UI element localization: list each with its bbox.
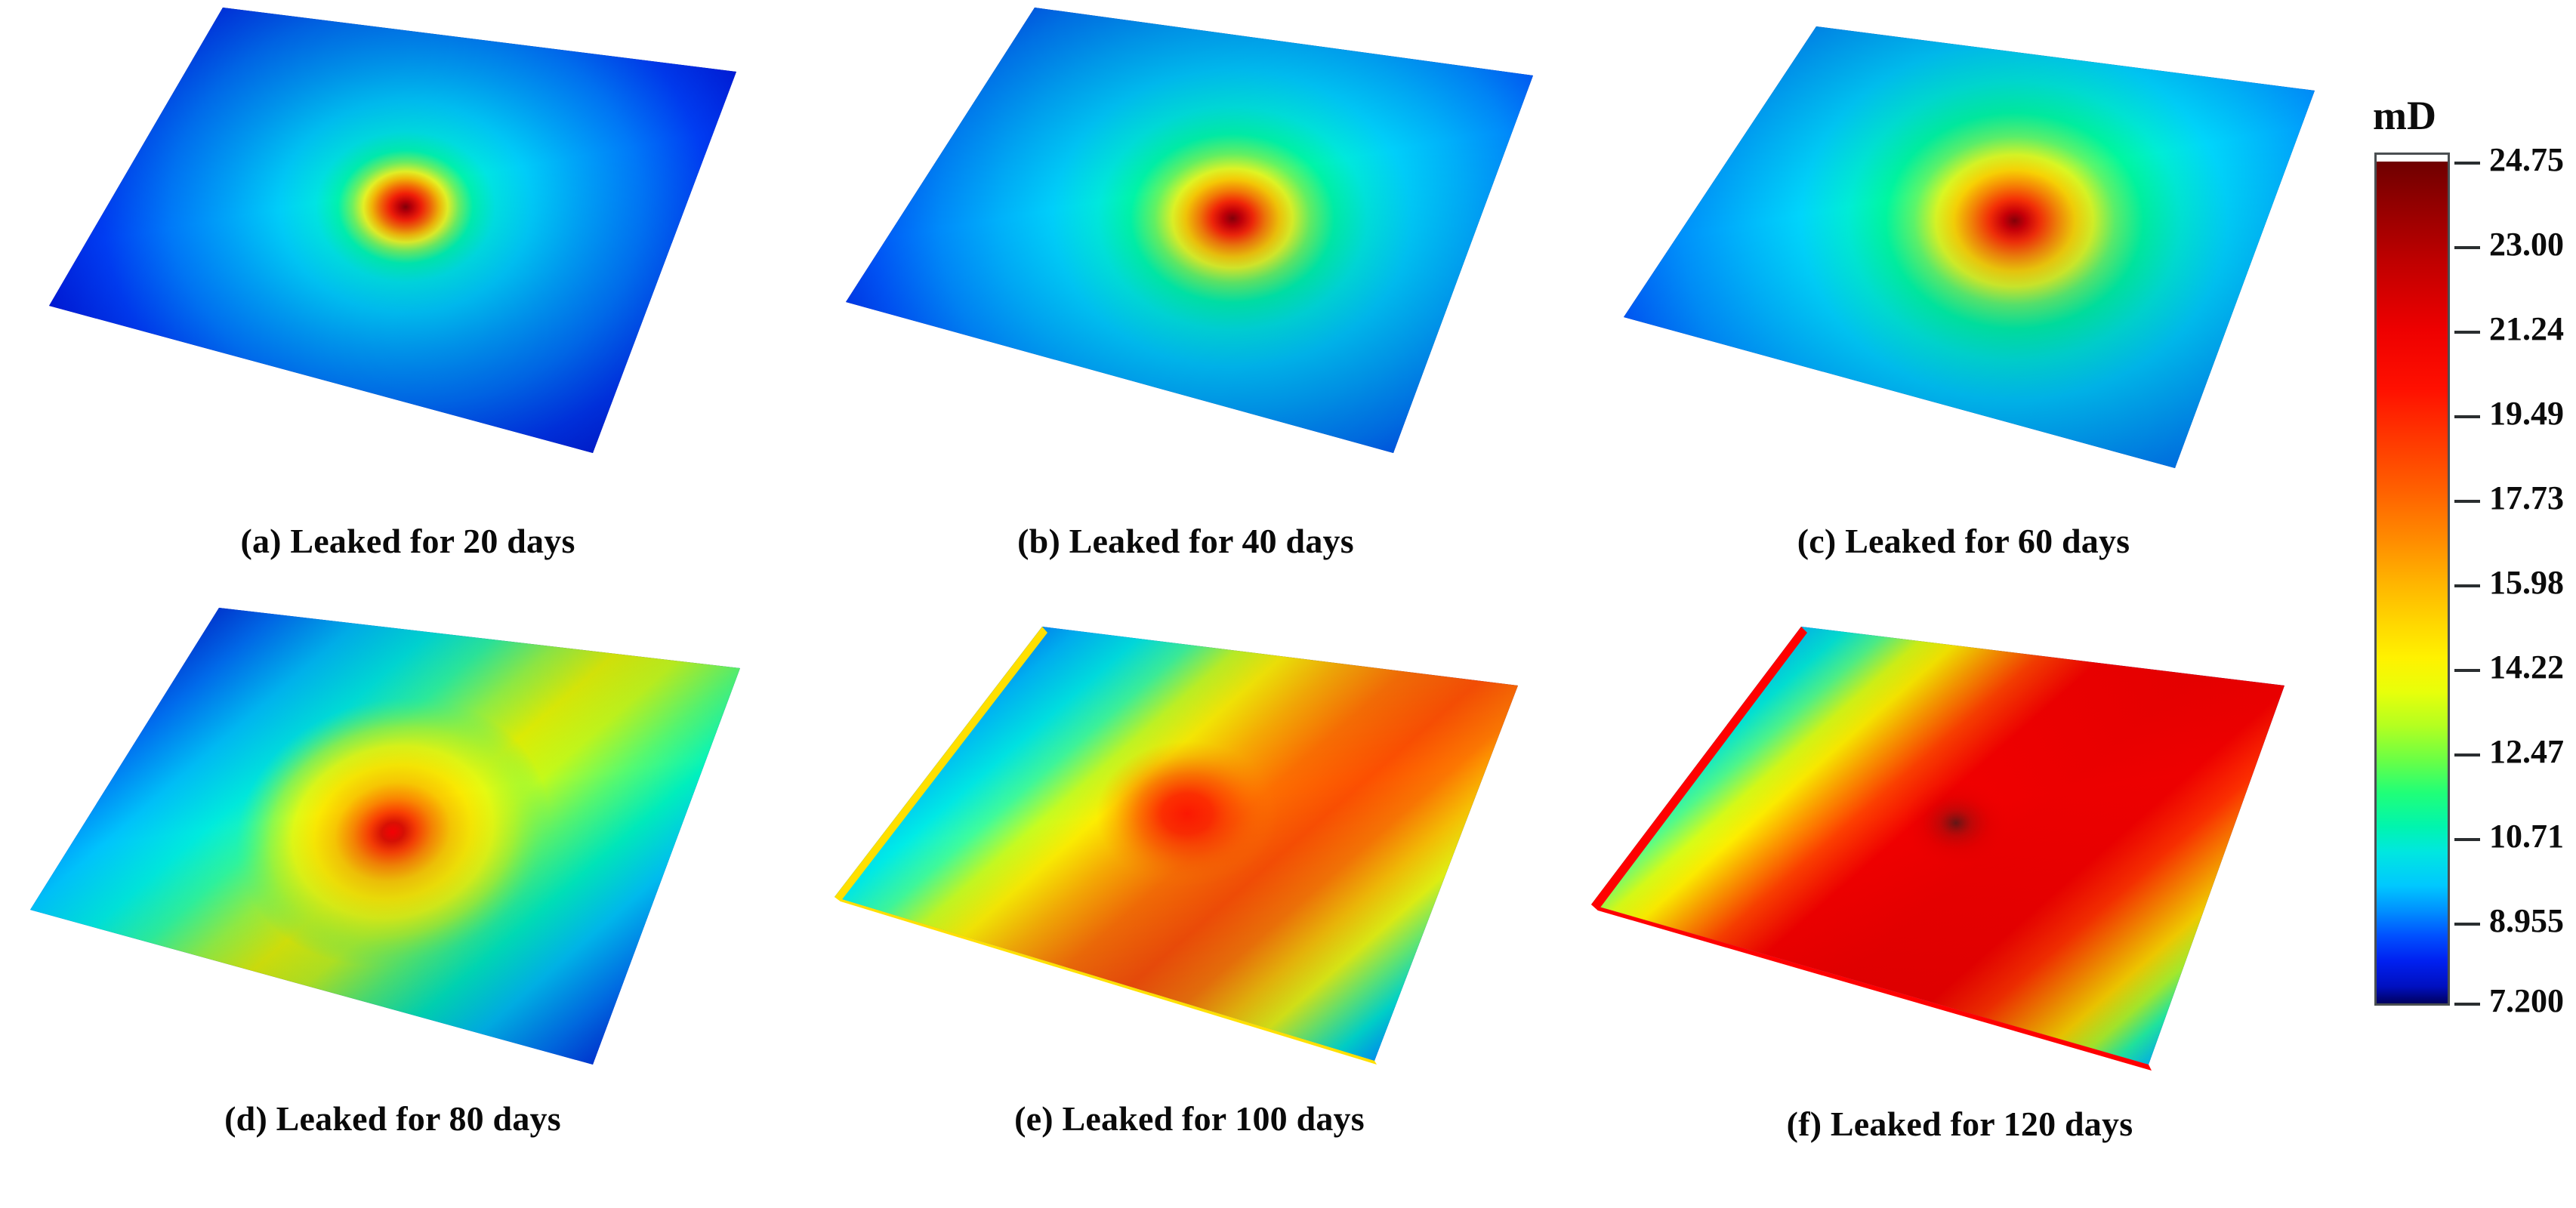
panel-c: (c) Leaked for 60 days: [1586, 0, 2341, 589]
colorbar-tick-label: 15.98: [2489, 566, 2564, 599]
panel-b: (b) Leaked for 40 days: [808, 0, 1563, 589]
colorbar-tick: [2454, 500, 2480, 503]
panel-a: (a) Leaked for 20 days: [30, 0, 785, 589]
colorbar-tick: [2454, 415, 2480, 418]
colorbar-tick: [2454, 669, 2480, 672]
colorbar-tick: [2454, 923, 2480, 926]
colorbar-tick: [2454, 162, 2480, 165]
colorbar-tick-label: 19.49: [2489, 397, 2564, 430]
colorbar-tick-label: 8.955: [2489, 904, 2564, 938]
panel-d: (d) Leaked for 80 days: [15, 596, 770, 1193]
panel-f: (f) Leaked for 120 days: [1575, 596, 2345, 1193]
colorbar-tick-label: 14.22: [2489, 651, 2564, 684]
colorbar-tick: [2454, 331, 2480, 334]
panel-c-caption: (c) Leaked for 60 days: [1586, 521, 2341, 561]
panel-e: (e) Leaked for 100 days: [812, 596, 1567, 1193]
colorbar-tick-label: 7.200: [2489, 985, 2564, 1018]
panel-a-surface: [30, 0, 785, 528]
colorbar-tick-label: 12.47: [2489, 735, 2564, 769]
panel-e-caption: (e) Leaked for 100 days: [812, 1099, 1567, 1139]
colorbar-tick: [2454, 584, 2480, 587]
panel-d-caption: (d) Leaked for 80 days: [15, 1099, 770, 1139]
colorbar-tick: [2454, 1003, 2480, 1006]
colorbar-tick-label: 10.71: [2489, 820, 2564, 853]
colorbar-unit-label: mD: [2373, 92, 2436, 139]
panel-c-surface: [1586, 0, 2341, 528]
colorbar-tick: [2454, 753, 2480, 757]
colorbar-tick-label: 17.73: [2489, 482, 2564, 515]
colorbar-tick-label: 21.24: [2489, 313, 2564, 346]
colorbar-tick-label: 23.00: [2489, 228, 2564, 261]
panel-f-surface: [1575, 596, 2345, 1102]
panel-a-caption: (a) Leaked for 20 days: [30, 521, 785, 561]
colorbar: mD 24.75 23.00 21.24 19.49 17.73 15.98 1…: [2356, 83, 2575, 1019]
colorbar-tick-label: 24.75: [2489, 143, 2564, 177]
colorbar-over-cap: [2377, 155, 2448, 162]
permeability-figure: (a) Leaked for 20 days: [0, 0, 2576, 1208]
panel-d-surface: [15, 596, 770, 1095]
panel-b-surface: [808, 0, 1563, 528]
colorbar-tick: [2454, 246, 2480, 249]
colorbar-tick: [2454, 838, 2480, 841]
panel-e-surface: [812, 596, 1567, 1095]
panel-f-caption: (f) Leaked for 120 days: [1575, 1104, 2345, 1144]
colorbar-gradient: [2377, 162, 2448, 1003]
colorbar-body: 24.75 23.00 21.24 19.49 17.73 15.98 14.2…: [2374, 153, 2450, 1006]
panel-b-caption: (b) Leaked for 40 days: [808, 521, 1563, 561]
